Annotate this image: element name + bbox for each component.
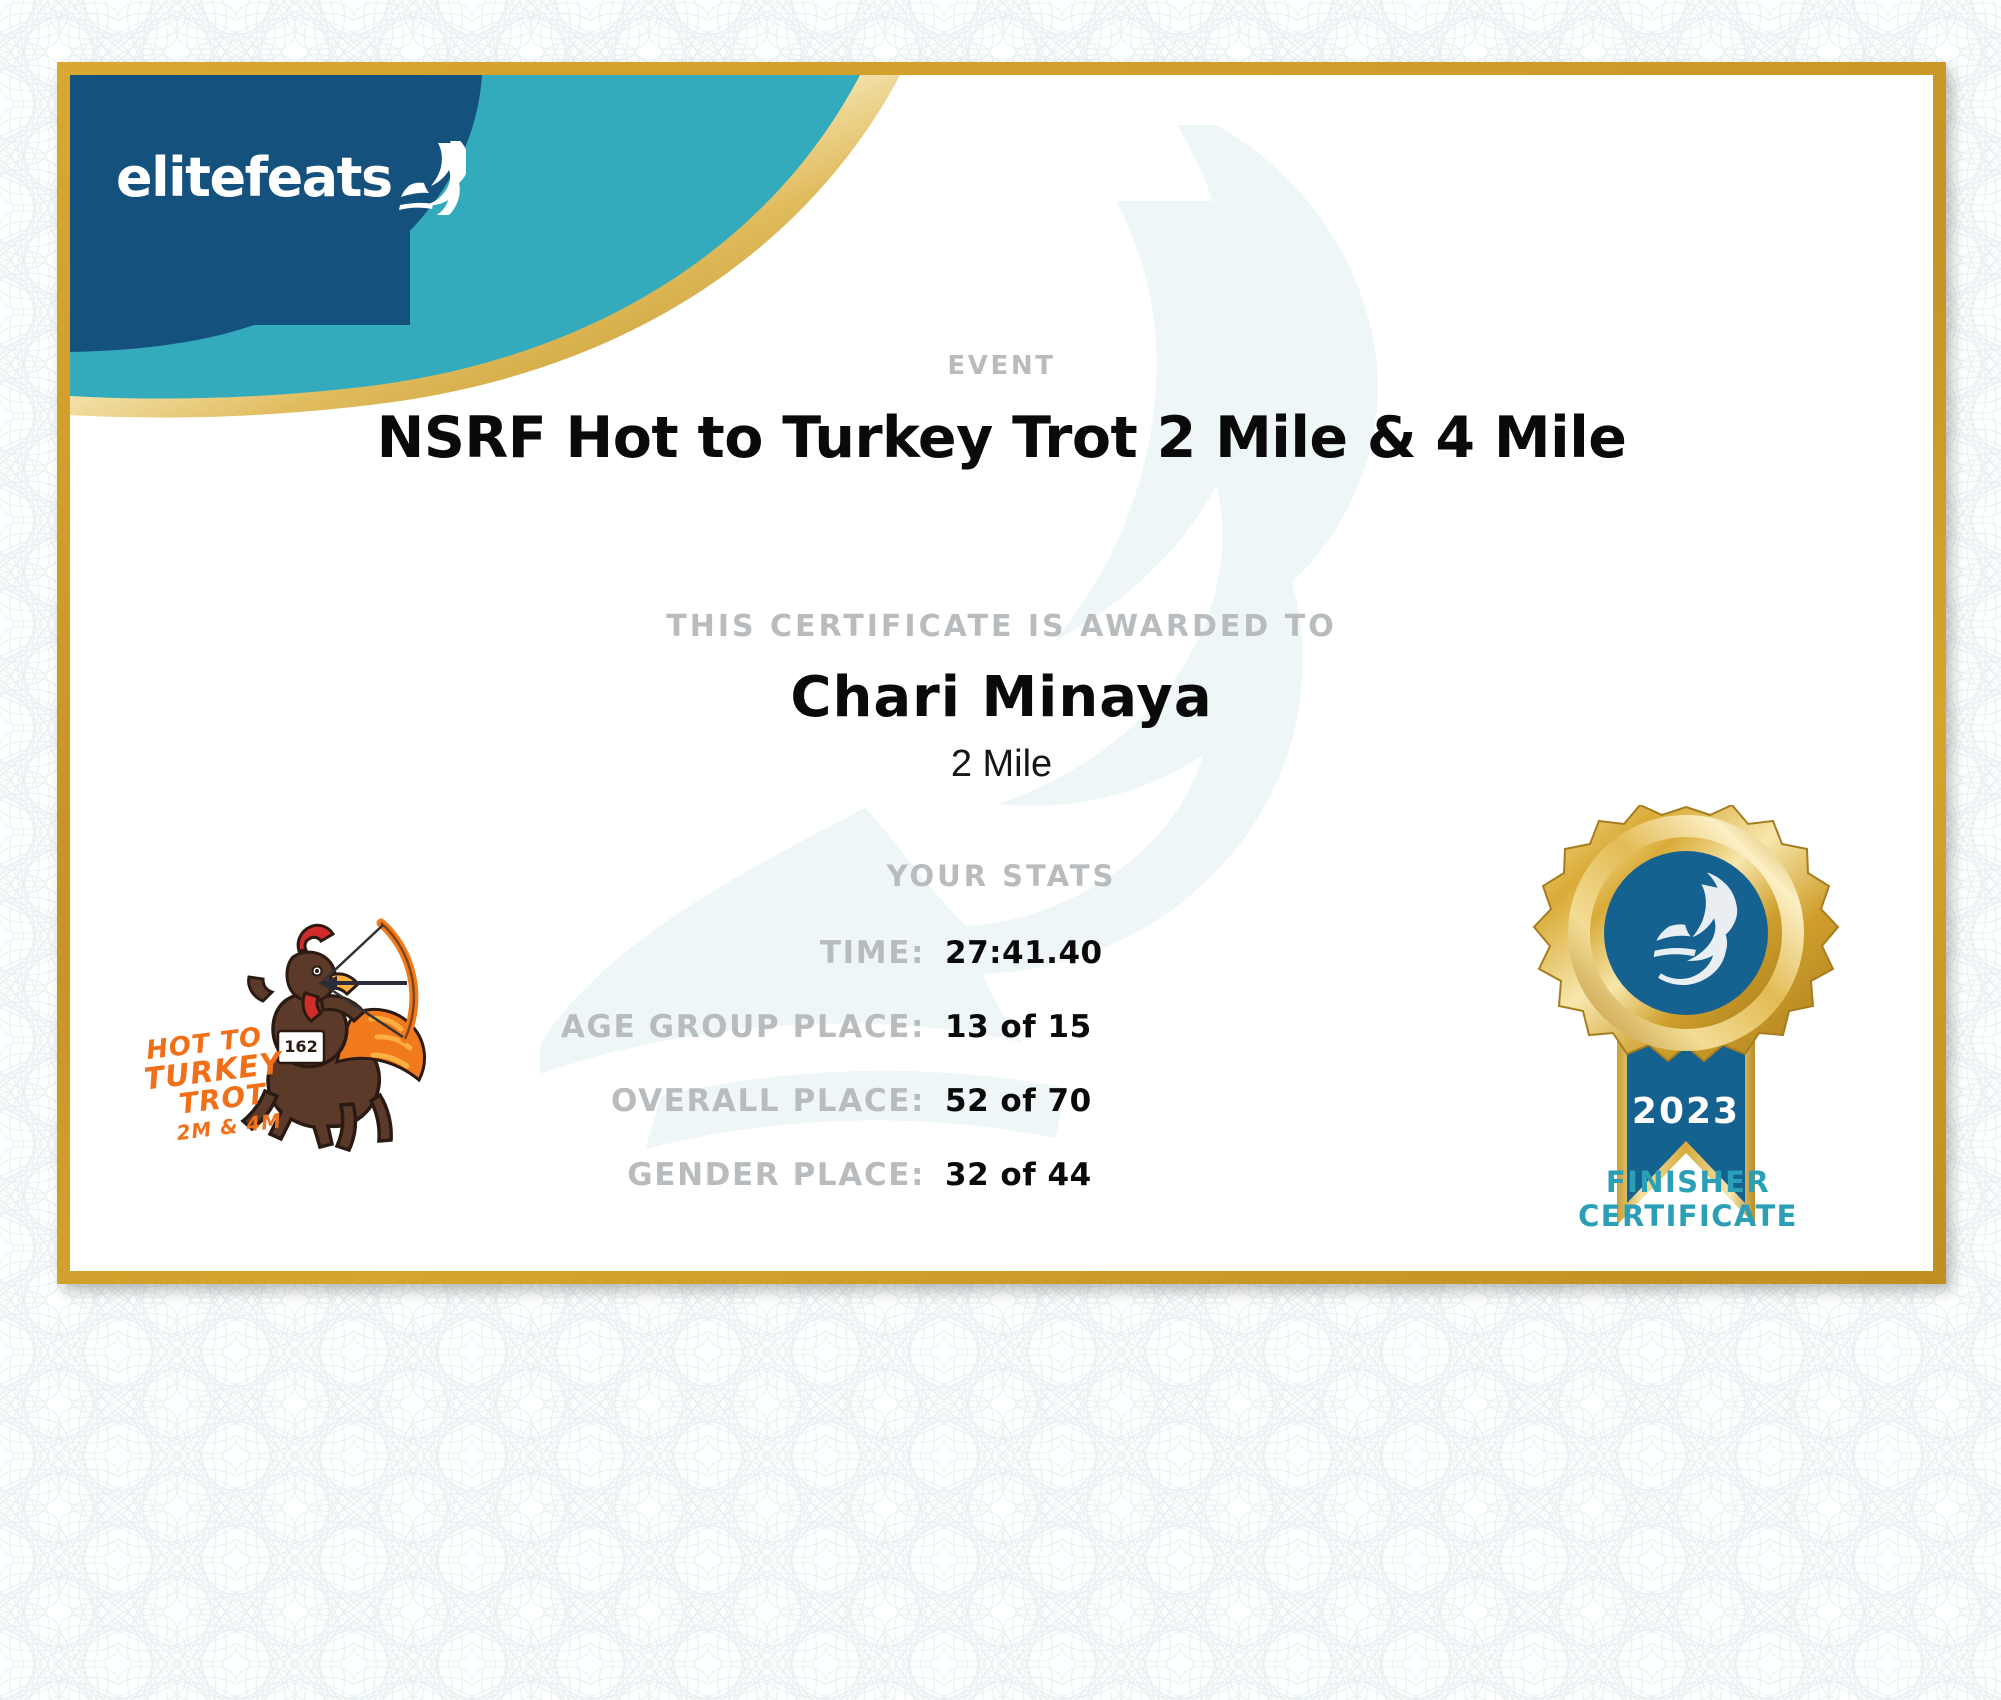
stat-row-gender-place: GENDER PLACE: 32 of 44 [370, 1157, 1370, 1201]
recipient-distance: 2 Mile [70, 743, 1933, 786]
stat-value: 32 of 44 [925, 1157, 1345, 1193]
stat-value: 27:41.40 [925, 935, 1345, 971]
hot-to-turkey-trot-logo: 162 [145, 905, 475, 1155]
stat-key: GENDER PLACE: [395, 1157, 925, 1193]
certificate-sheet: elitefeats EVENT NSRF Hot to Turkey Trot… [70, 75, 1933, 1271]
header-curve-decoration [70, 75, 1070, 435]
elitefeats-logo: elitefeats [116, 141, 466, 215]
stat-row-age-group-place: AGE GROUP PLACE: 13 of 15 [370, 1009, 1370, 1053]
stat-row-overall-place: OVERALL PLACE: 52 of 70 [370, 1083, 1370, 1127]
finisher-caption-line-1: FINISHER [1513, 1165, 1863, 1199]
bib-number: 162 [284, 1037, 317, 1056]
recipient-name: Chari Minaya [70, 665, 1933, 730]
stats-list: TIME: 27:41.40 AGE GROUP PLACE: 13 of 15… [370, 935, 1370, 1231]
stat-value: 52 of 70 [925, 1083, 1345, 1119]
finisher-certificate-caption: FINISHER CERTIFICATE [1513, 1165, 1863, 1233]
finisher-caption-line-2: CERTIFICATE [1513, 1199, 1863, 1233]
event-label: EVENT [70, 351, 1933, 381]
awarded-to-label: THIS CERTIFICATE IS AWARDED TO [70, 609, 1933, 644]
winged-foot-icon [398, 141, 466, 215]
event-title: NSRF Hot to Turkey Trot 2 Mile & 4 Mile [70, 405, 1933, 471]
stat-value: 13 of 15 [925, 1009, 1345, 1045]
certificate-page: elitefeats EVENT NSRF Hot to Turkey Trot… [0, 0, 2001, 1700]
brand-wordmark: elitefeats [116, 151, 392, 205]
medal-year: 2023 [1632, 1091, 1740, 1132]
stat-row-time: TIME: 27:41.40 [370, 935, 1370, 979]
gold-certificate-border: elitefeats EVENT NSRF Hot to Turkey Trot… [57, 62, 1946, 1284]
